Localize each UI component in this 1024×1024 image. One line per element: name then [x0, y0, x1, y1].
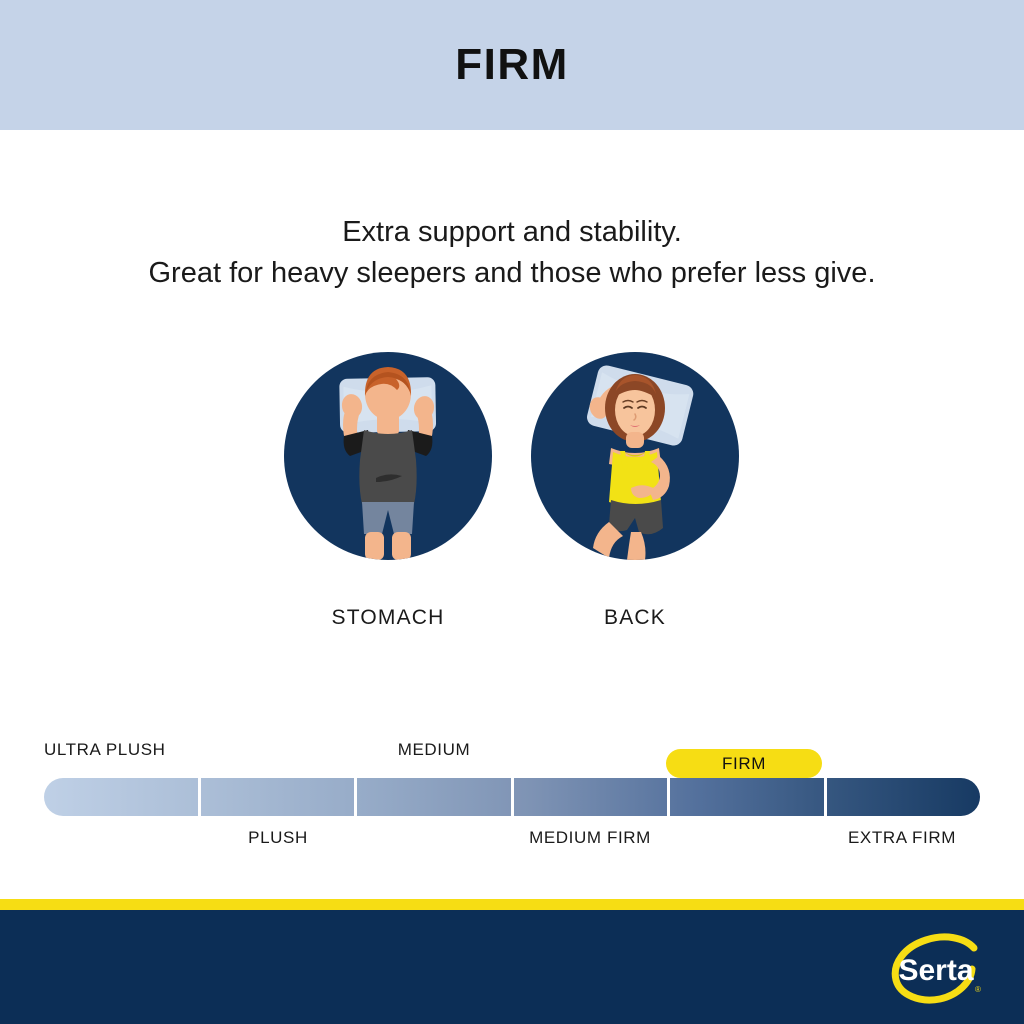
subtitle-line-2: Great for heavy sleepers and those who p…: [0, 253, 1024, 294]
header-banner: FIRM: [0, 0, 1024, 130]
scale-segment-extra-firm[interactable]: [824, 778, 981, 816]
scale-label-medium-firm: MEDIUM FIRM: [512, 828, 668, 848]
sleep-positions: STOMACH: [0, 352, 1024, 652]
stomach-sleeper-circle: [284, 352, 492, 560]
footer-bar: Serta ®: [0, 910, 1024, 1024]
back-sleeper-icon: [531, 352, 739, 560]
stomach-sleeper-icon: [284, 352, 492, 560]
scale-label-medium: MEDIUM: [356, 740, 512, 760]
firmness-scale-bar[interactable]: [44, 778, 980, 816]
scale-segment-ultra-plush[interactable]: [44, 778, 198, 816]
footer-accent-stripe: [0, 899, 1024, 910]
firmness-scale-bottom-labels: PLUSH MEDIUM FIRM EXTRA FIRM: [44, 828, 980, 858]
subtitle-block: Extra support and stability. Great for h…: [0, 212, 1024, 294]
scale-label-plush: PLUSH: [200, 828, 356, 848]
serta-logo-text: Serta: [898, 954, 973, 987]
sleep-position-stomach: STOMACH: [284, 352, 492, 630]
scale-label-ultra-plush: ULTRA PLUSH: [44, 740, 200, 760]
scale-label-extra-firm: EXTRA FIRM: [824, 828, 980, 848]
back-sleeper-circle: [531, 352, 739, 560]
firmness-scale-top-labels: ULTRA PLUSH MEDIUM FIRM: [44, 740, 980, 770]
subtitle-line-1: Extra support and stability.: [0, 212, 1024, 253]
scale-badge-firm[interactable]: FIRM: [666, 749, 822, 778]
scale-segment-medium[interactable]: [354, 778, 511, 816]
sleep-position-label-stomach: STOMACH: [284, 606, 492, 630]
sleep-position-back: BACK: [531, 352, 739, 630]
serta-logo-icon: Serta ®: [886, 932, 992, 1006]
registered-mark-icon: ®: [975, 985, 981, 994]
serta-logo[interactable]: Serta ®: [886, 932, 992, 1006]
scale-segment-firm[interactable]: [667, 778, 824, 816]
scale-segment-plush[interactable]: [198, 778, 355, 816]
scale-segment-medium-firm[interactable]: [511, 778, 668, 816]
page-title: FIRM: [455, 40, 569, 90]
firmness-scale: ULTRA PLUSH MEDIUM FIRM PLUSH MEDIUM FIR…: [0, 730, 1024, 870]
sleep-position-label-back: BACK: [531, 606, 739, 630]
